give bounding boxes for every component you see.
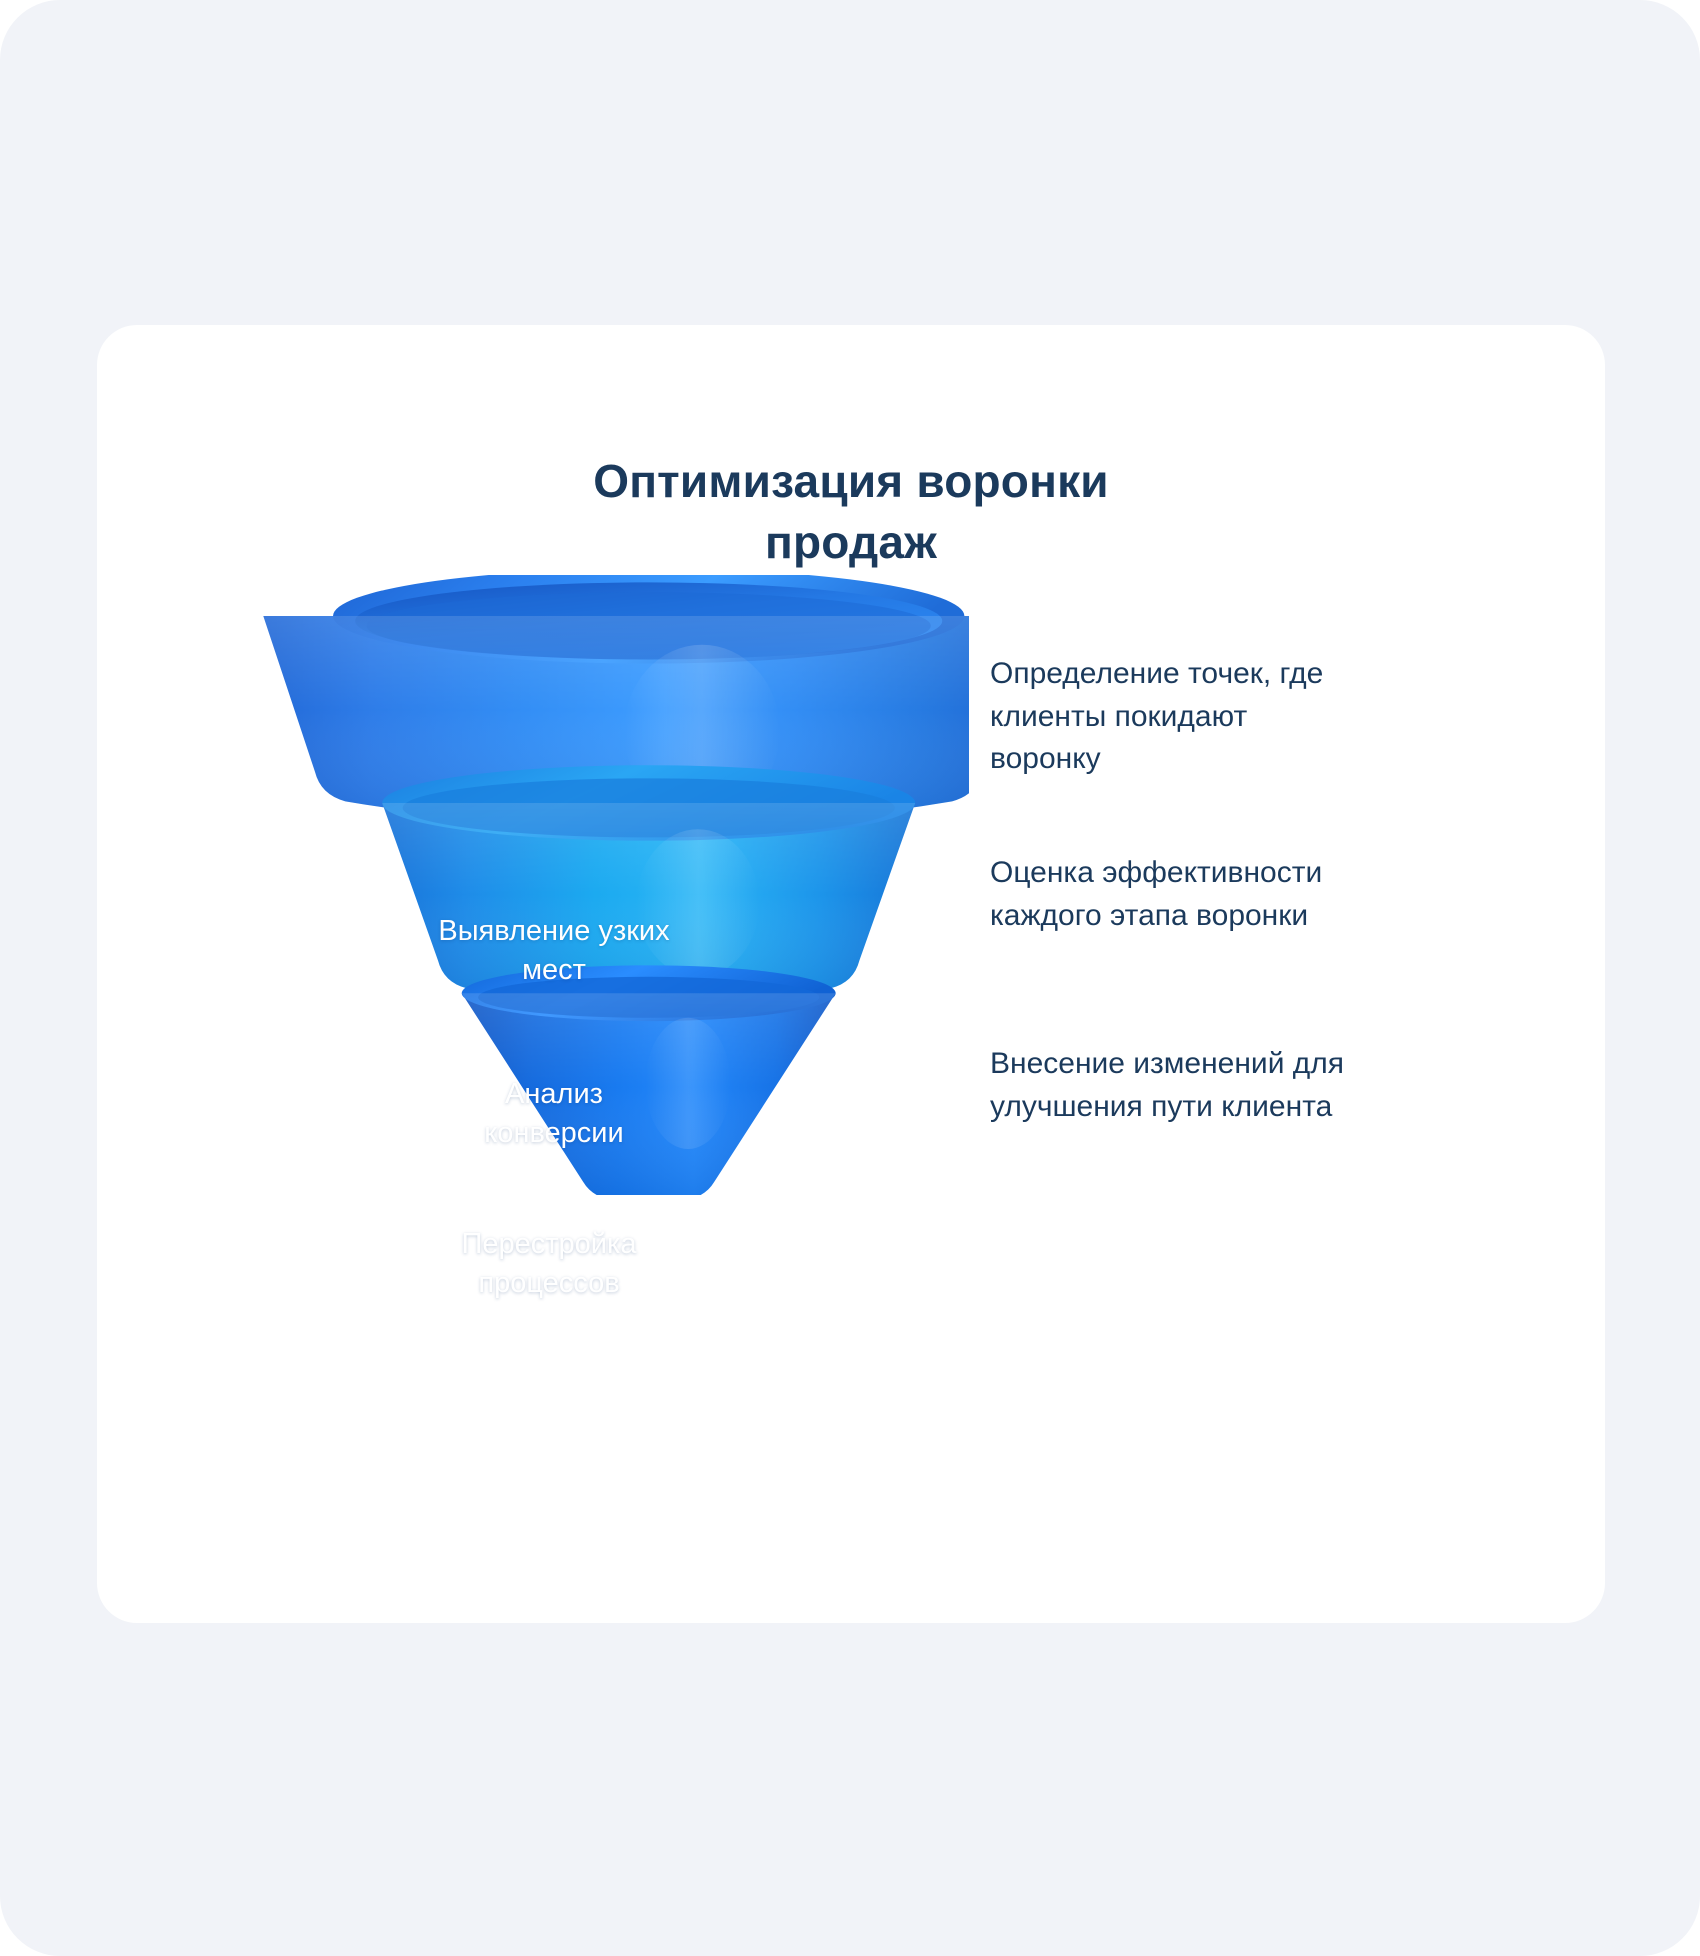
content-card: Оптимизация воронки продаж	[97, 325, 1605, 1623]
description-stage-3-line-2: улучшения пути клиента	[990, 1090, 1332, 1123]
funnel-svg	[169, 575, 969, 1195]
stage-3-highlight	[645, 1018, 730, 1149]
description-stage-2-line-2: каждого этапа воронки	[990, 899, 1308, 932]
page-title-line-1: Оптимизация воронки	[97, 451, 1605, 512]
description-stage-1-line-2: клиенты покидают	[990, 700, 1247, 733]
funnel-graphic: Выявление узких мест Анализ конверсии Пе…	[169, 575, 969, 1195]
funnel-diagram: Выявление узких мест Анализ конверсии Пе…	[97, 575, 1605, 1195]
funnel-stage-3-label: Перестройка процессов	[384, 1225, 714, 1303]
description-stage-1-line-3: воронку	[990, 742, 1101, 775]
stage-2-highlight	[636, 829, 759, 977]
page-canvas: Оптимизация воронки продаж	[0, 0, 1700, 1956]
page-title-line-2: продаж	[97, 512, 1605, 573]
description-stage-3: Внесение изменений для улучшения пути кл…	[990, 1043, 1490, 1128]
funnel-stage-3-label-line-1: Перестройка	[462, 1228, 637, 1260]
description-stage-2: Оценка эффективности каждого этапа ворон…	[990, 852, 1490, 937]
description-stage-1-line-1: Определение точек, где	[990, 657, 1323, 690]
page-title: Оптимизация воронки продаж	[97, 451, 1605, 572]
funnel-stage-3[interactable]	[462, 965, 836, 1195]
funnel-stage-3-label-line-2: процессов	[478, 1267, 619, 1299]
description-column: Определение точек, где клиенты покидают …	[990, 575, 1510, 1195]
description-stage-2-line-1: Оценка эффективности	[990, 856, 1322, 889]
description-stage-1: Определение точек, где клиенты покидают …	[990, 653, 1490, 781]
description-stage-3-line-1: Внесение изменений для	[990, 1047, 1344, 1080]
